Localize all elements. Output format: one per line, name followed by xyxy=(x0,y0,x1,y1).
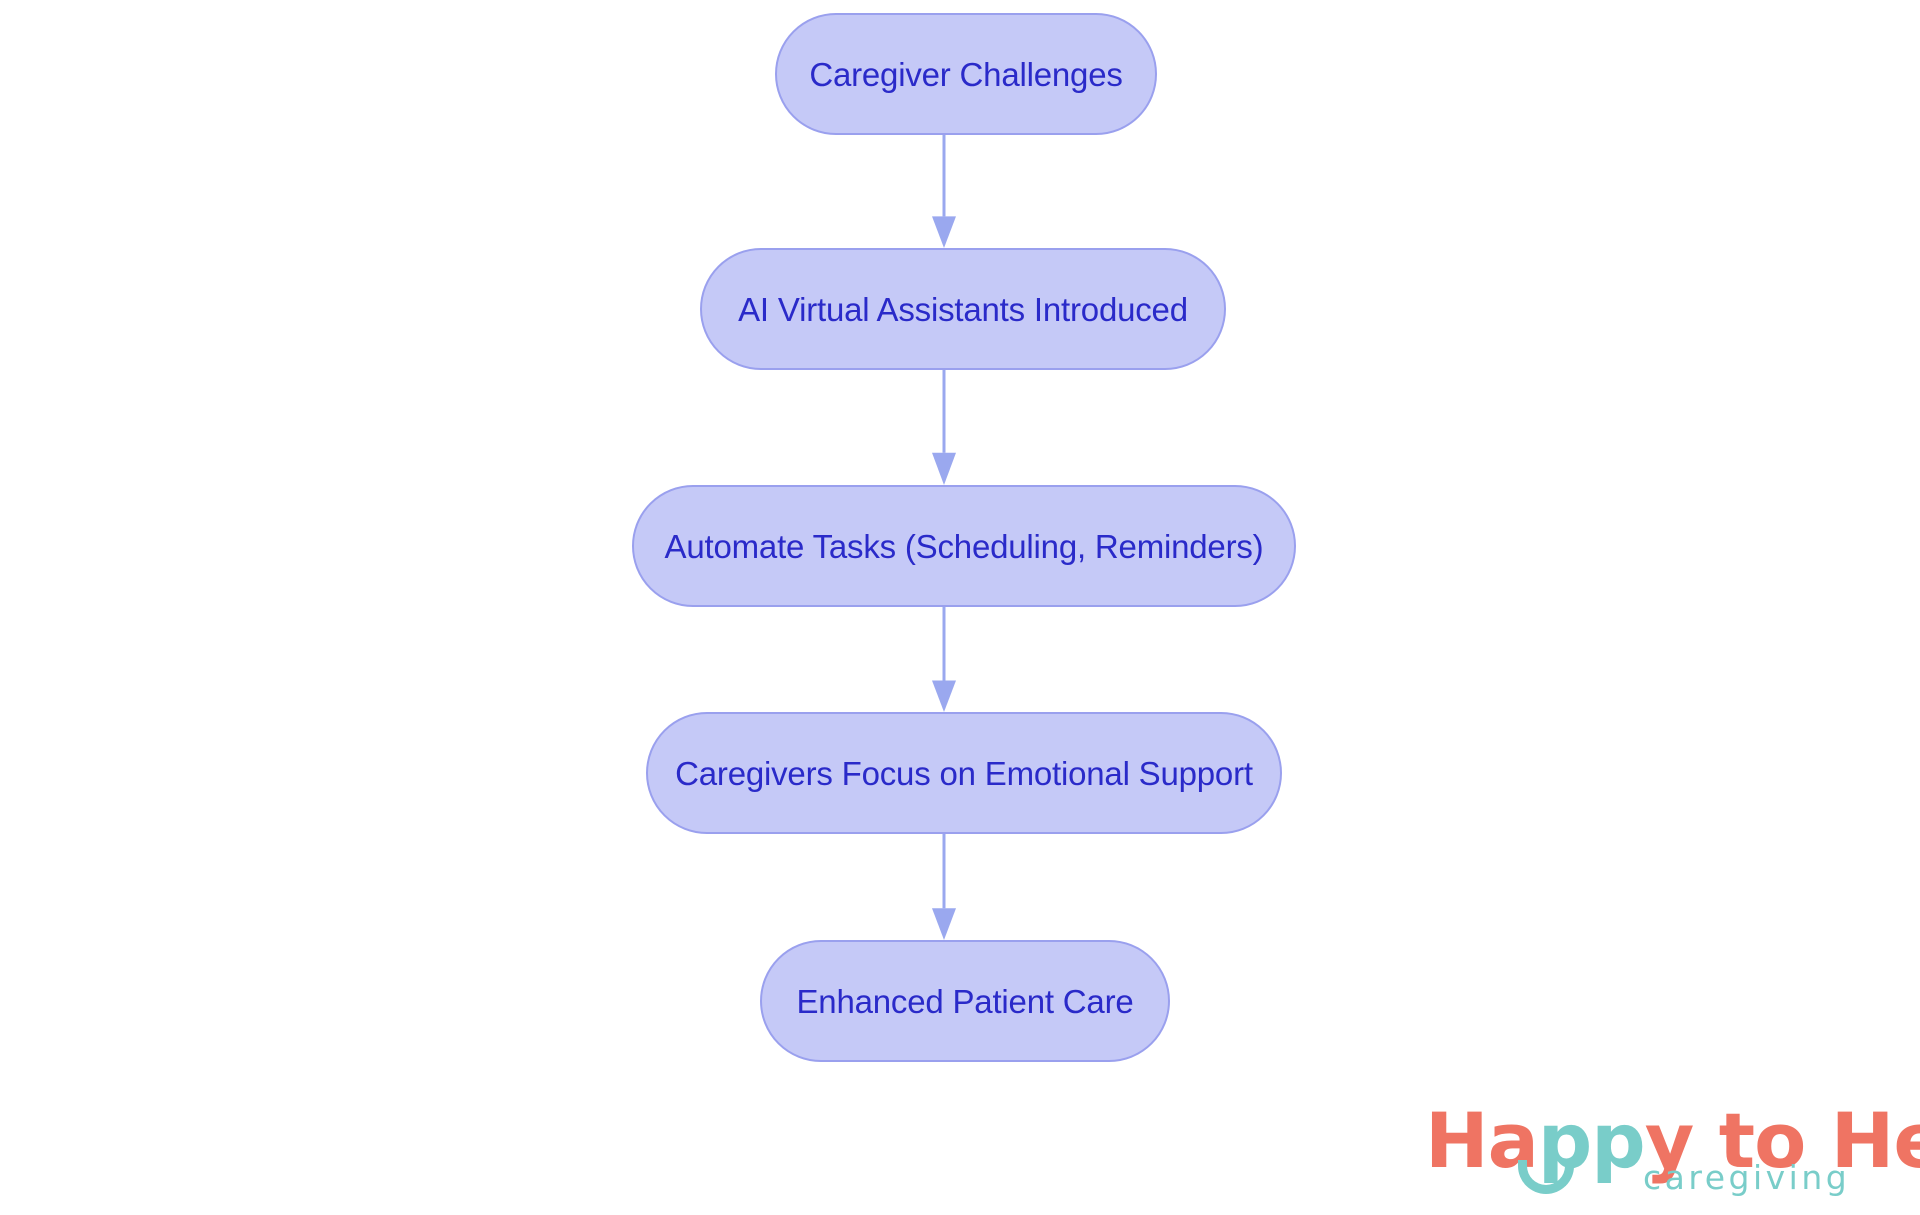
flow-arrow-down-icon xyxy=(924,607,964,712)
flow-node-label: Automate Tasks (Scheduling, Reminders) xyxy=(665,530,1264,563)
flow-node-label: AI Virtual Assistants Introduced xyxy=(738,293,1188,326)
flow-node-enhanced-patient-care[interactable]: Enhanced Patient Care xyxy=(760,940,1170,1062)
brand-logo: Happy to Help caregiving xyxy=(1425,1098,1895,1203)
flow-node-caregivers-focus-emotional-support[interactable]: Caregivers Focus on Emotional Support xyxy=(646,712,1282,834)
flow-arrow-down-icon xyxy=(924,834,964,940)
flow-node-ai-virtual-assistants-introduced[interactable]: AI Virtual Assistants Introduced xyxy=(700,248,1226,370)
flow-node-label: Caregivers Focus on Emotional Support xyxy=(675,757,1253,790)
flow-node-label: Caregiver Challenges xyxy=(809,58,1122,91)
flow-arrow-down-icon xyxy=(924,370,964,485)
flow-arrow-down-icon xyxy=(924,135,964,248)
smile-arc-icon xyxy=(1518,1160,1574,1194)
logo-tagline: caregiving xyxy=(1643,1160,1850,1196)
flow-node-label: Enhanced Patient Care xyxy=(796,985,1133,1018)
flowchart-canvas: Caregiver Challenges AI Virtual Assistan… xyxy=(0,0,1920,1215)
flow-node-automate-tasks[interactable]: Automate Tasks (Scheduling, Reminders) xyxy=(632,485,1296,607)
logo-letter-h: H xyxy=(1425,1096,1488,1185)
flow-node-caregiver-challenges[interactable]: Caregiver Challenges xyxy=(775,13,1157,135)
